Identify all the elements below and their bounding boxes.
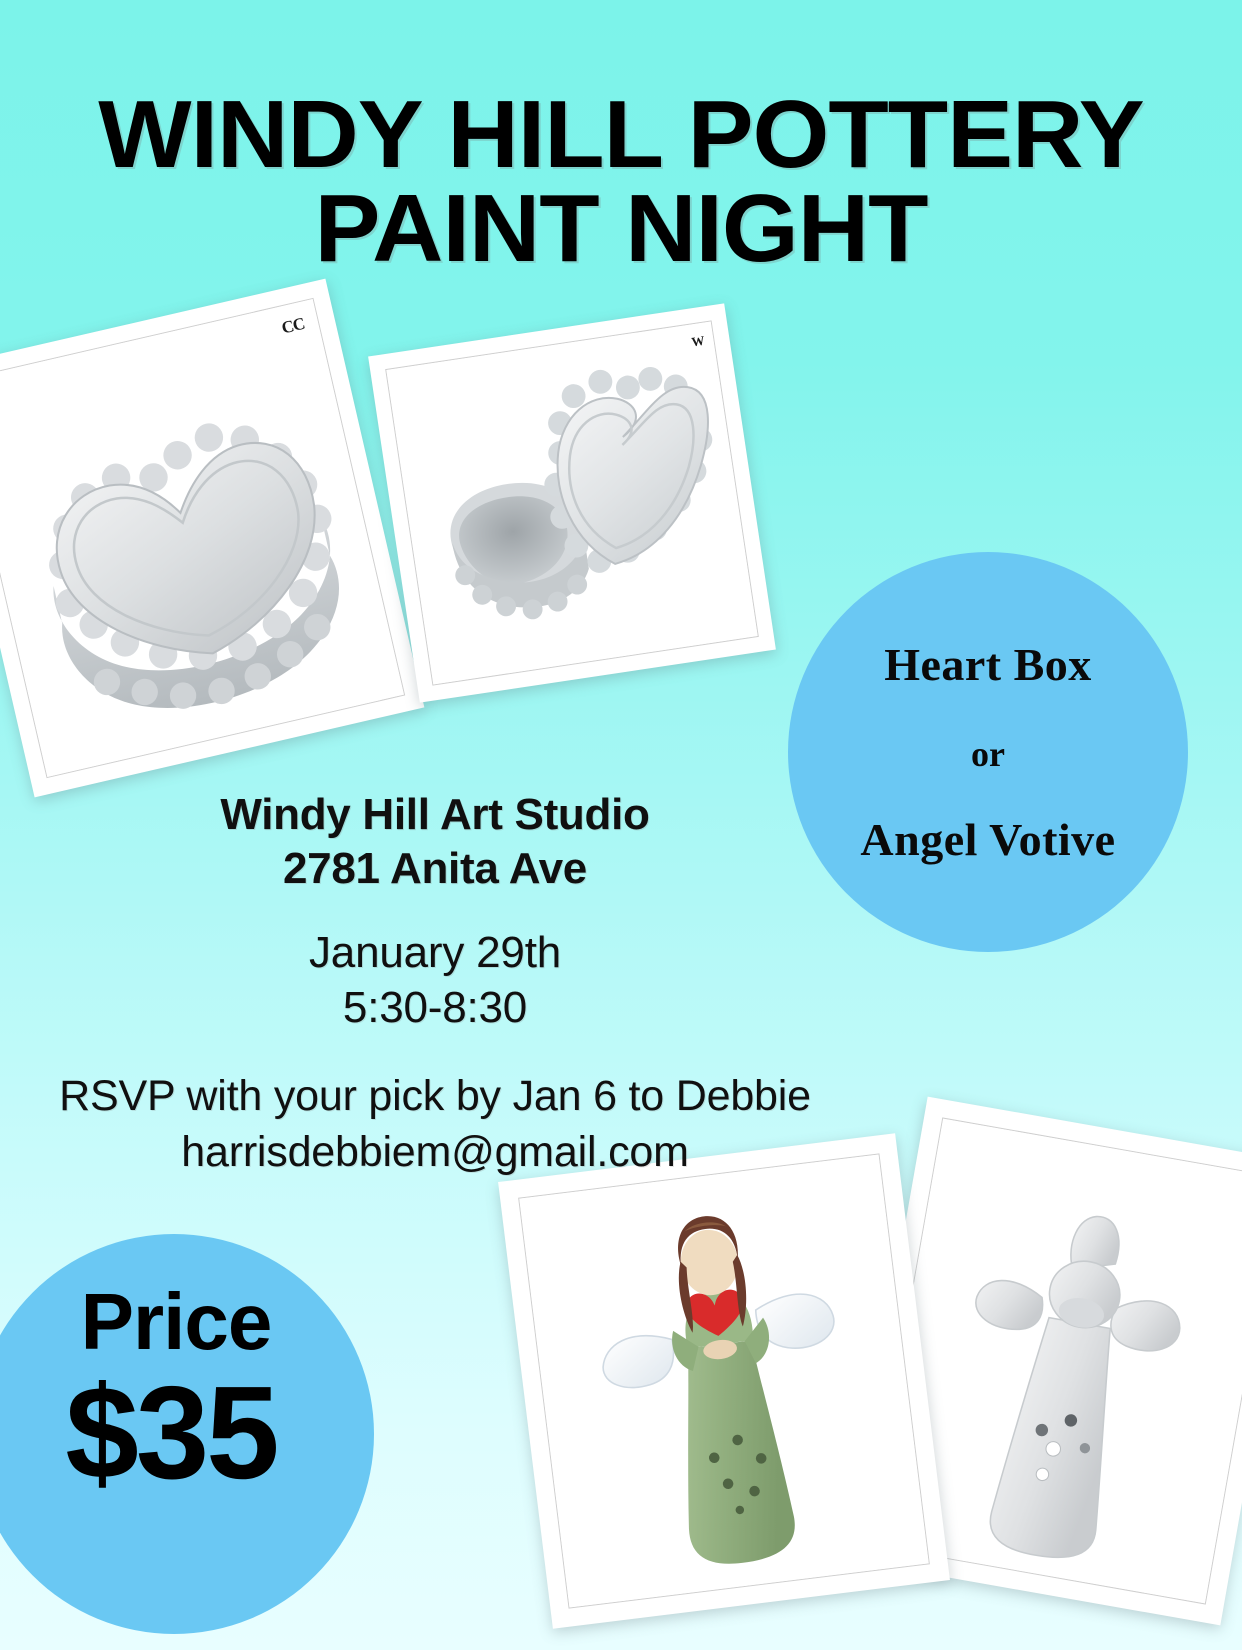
schedule-block: January 29th 5:30-8:30 — [0, 925, 870, 1035]
photo-heart-box-open: W — [368, 303, 776, 702]
title-line-1: WINDY HILL POTTERY — [0, 88, 1242, 182]
price-circle: Price $35 — [0, 1234, 374, 1634]
poster-title: WINDY HILL POTTERY PAINT NIGHT — [0, 88, 1242, 276]
venue-address: 2781 Anita Ave — [0, 842, 870, 896]
event-details: Windy Hill Art Studio 2781 Anita Ave Jan… — [0, 788, 870, 1181]
rsvp-block: RSVP with your pick by Jan 6 to Debbie h… — [0, 1069, 870, 1181]
watermark-w: W — [690, 333, 704, 351]
venue-name: Windy Hill Art Studio — [0, 788, 870, 842]
photo-mat: W — [385, 320, 759, 685]
option-conjunction: or — [971, 733, 1005, 775]
event-date: January 29th — [0, 925, 870, 980]
heart-box-closed-illustration — [0, 299, 404, 777]
event-time: 5:30-8:30 — [0, 980, 870, 1035]
rsvp-email: harrisdebbiem@gmail.com — [0, 1125, 870, 1181]
rsvp-instruction: RSVP with your pick by Jan 6 to Debbie — [0, 1069, 870, 1125]
photo-image-heart-open — [386, 322, 757, 685]
option-angel-votive: Angel Votive — [860, 813, 1115, 866]
heart-box-open-illustration — [386, 322, 757, 685]
venue-block: Windy Hill Art Studio 2781 Anita Ave — [0, 788, 870, 895]
photo-image-heart-closed — [0, 299, 404, 777]
poster-canvas: WINDY HILL POTTERY PAINT NIGHT — [0, 0, 1242, 1650]
photo-mat — [518, 1153, 930, 1608]
price-label: Price — [81, 1282, 272, 1362]
option-heart-box: Heart Box — [884, 638, 1092, 691]
photo-angel-painted — [498, 1133, 950, 1628]
photo-image-angel-painted — [519, 1154, 929, 1607]
photo-heart-box-closed: CC — [0, 279, 424, 798]
title-line-2: PAINT NIGHT — [0, 182, 1242, 276]
angel-painted-illustration — [519, 1154, 929, 1607]
photo-mat: CC — [0, 298, 405, 778]
price-amount: $35 — [65, 1366, 276, 1501]
